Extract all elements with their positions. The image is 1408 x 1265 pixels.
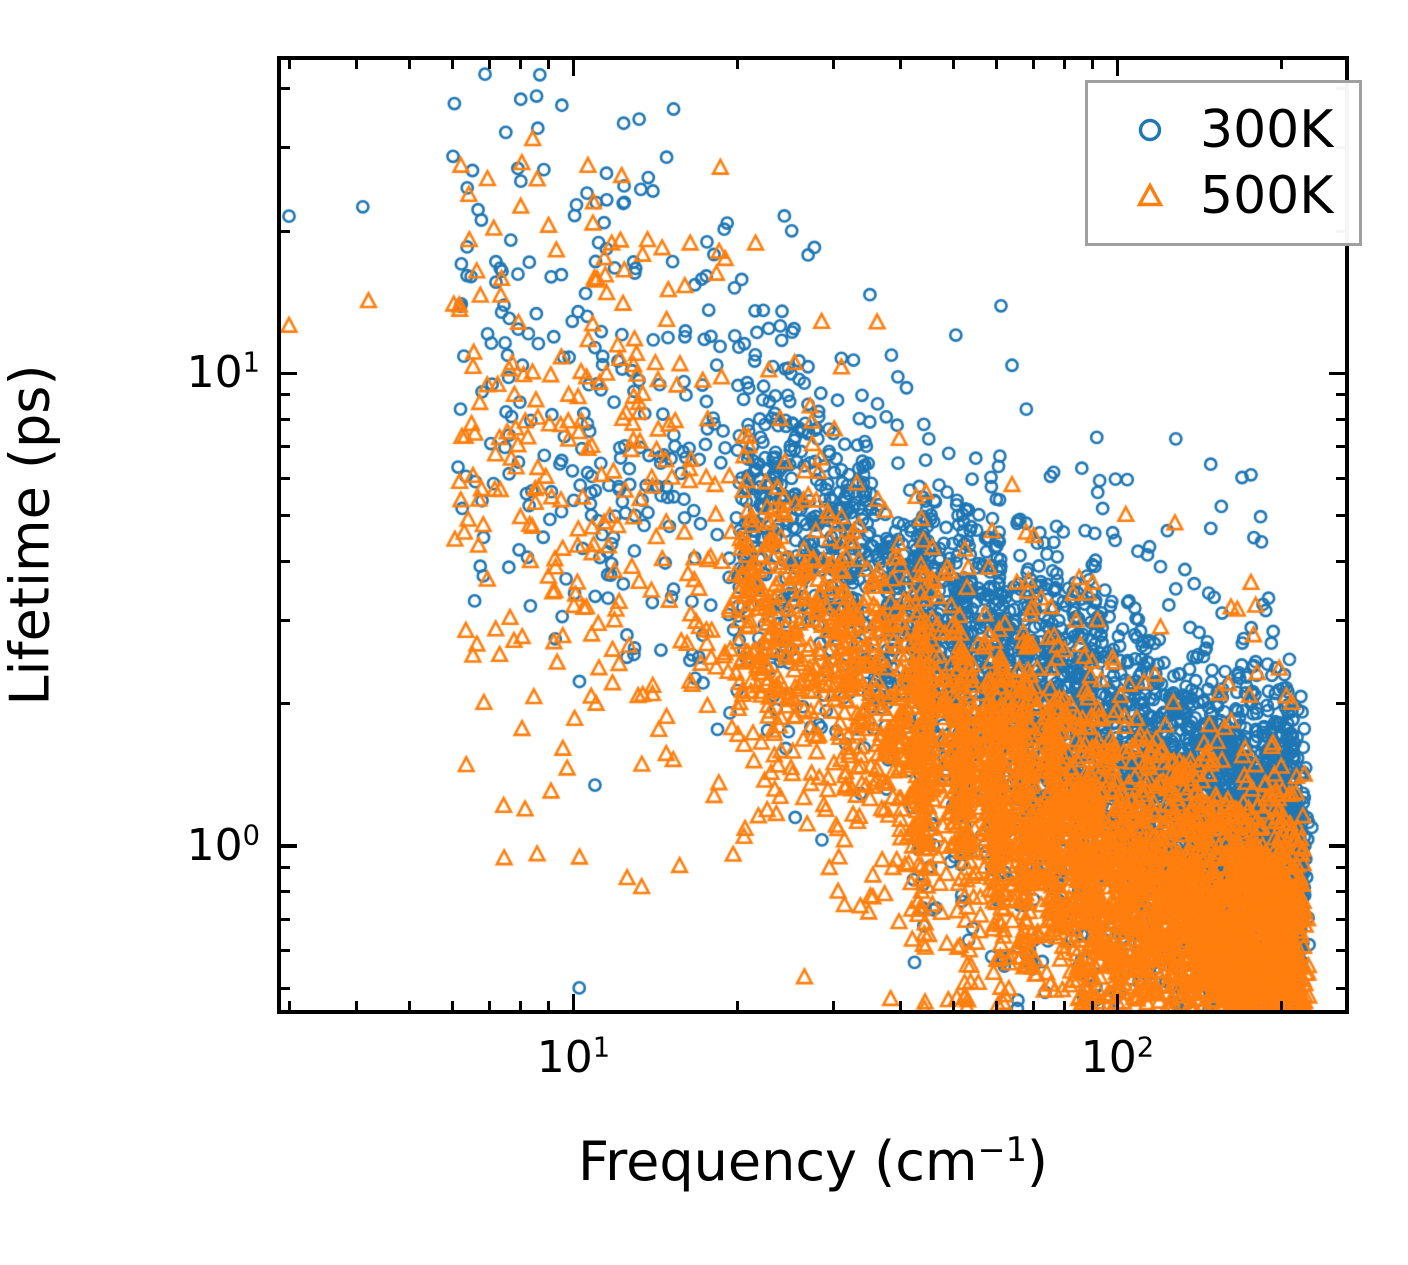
x-tick-minor <box>519 1001 522 1010</box>
y-tick-minor <box>281 866 290 869</box>
y-tick-minor <box>1336 949 1345 952</box>
x-tick-minor <box>408 60 411 69</box>
x-tick-minor <box>451 1001 454 1010</box>
x-tick-major <box>1116 60 1120 76</box>
legend: 300K 500K <box>1085 80 1362 246</box>
y-tick-minor <box>1336 445 1345 448</box>
x-tick-minor <box>1091 1001 1094 1010</box>
x-tick-label: 102 <box>1081 1036 1154 1080</box>
x-tick-minor <box>488 1001 491 1010</box>
x-tick-minor <box>547 60 550 69</box>
x-tick-minor <box>288 60 291 69</box>
x-tick-minor <box>952 60 955 69</box>
x-tick-minor <box>1032 60 1035 69</box>
x-tick-minor <box>995 60 998 69</box>
y-tick-major <box>281 844 297 848</box>
y-tick-minor <box>1336 560 1345 563</box>
x-tick-minor <box>288 1001 291 1010</box>
y-tick-minor <box>281 987 290 990</box>
x-axis-title: Frequency (cm−1) <box>578 1130 1048 1193</box>
x-tick-minor <box>519 60 522 69</box>
x-tick-minor <box>736 1001 739 1010</box>
x-tick-minor <box>355 1001 358 1010</box>
x-axis-title-base: Frequency (cm <box>578 1130 978 1193</box>
x-tick-minor <box>832 1001 835 1010</box>
y-tick-minor <box>281 418 290 421</box>
y-tick-major <box>281 372 297 376</box>
y-tick-label: 100 <box>140 824 260 868</box>
x-tick-minor <box>736 60 739 69</box>
y-tick-minor <box>1336 890 1345 893</box>
y-tick-minor <box>1336 987 1345 990</box>
x-tick-label: 101 <box>537 1036 610 1080</box>
y-tick-minor <box>281 560 290 563</box>
y-tick-minor <box>1336 918 1345 921</box>
y-tick-minor <box>1336 418 1345 421</box>
legend-label-500k: 500K <box>1196 170 1333 222</box>
y-tick-minor <box>281 393 290 396</box>
y-tick-minor <box>1336 393 1345 396</box>
x-tick-minor <box>547 1001 550 1010</box>
y-tick-minor <box>1336 702 1345 705</box>
x-tick-minor <box>1280 60 1283 69</box>
legend-item-500k[interactable]: 500K <box>1104 163 1333 229</box>
y-tick-minor <box>1336 477 1345 480</box>
y-tick-minor <box>281 477 290 480</box>
x-axis-title-exponent: −1 <box>978 1130 1027 1169</box>
x-tick-minor <box>451 60 454 69</box>
y-tick-minor <box>281 619 290 622</box>
y-tick-minor <box>281 702 290 705</box>
x-tick-major <box>1116 994 1120 1010</box>
circle-open-icon <box>1104 113 1196 147</box>
y-tick-major <box>1329 372 1345 376</box>
x-tick-minor <box>1280 1001 1283 1010</box>
y-tick-minor <box>1336 619 1345 622</box>
y-tick-major <box>1329 844 1345 848</box>
y-tick-label: 101 <box>140 351 260 395</box>
y-tick-minor <box>281 230 290 233</box>
y-tick-minor <box>281 146 290 149</box>
figure-root: 101102 100101 Frequency (cm−1) Lifetime … <box>0 0 1408 1265</box>
y-tick-minor <box>1336 866 1345 869</box>
x-tick-minor <box>408 1001 411 1010</box>
x-tick-minor <box>355 60 358 69</box>
y-axis-title: Lifetime (ps) <box>0 364 62 705</box>
x-tick-minor <box>899 1001 902 1010</box>
y-tick-minor <box>281 890 290 893</box>
x-tick-major <box>572 994 576 1010</box>
x-tick-minor <box>832 60 835 69</box>
y-tick-minor <box>281 445 290 448</box>
x-tick-major <box>572 60 576 76</box>
y-tick-minor <box>281 918 290 921</box>
legend-item-300k[interactable]: 300K <box>1104 97 1333 163</box>
triangle-open-icon <box>1104 179 1196 213</box>
x-axis-title-tail: ) <box>1027 1130 1048 1193</box>
legend-label-300k: 300K <box>1196 104 1333 156</box>
y-tick-minor <box>281 514 290 517</box>
x-tick-minor <box>899 60 902 69</box>
x-tick-minor <box>1091 60 1094 69</box>
y-tick-minor <box>281 87 290 90</box>
x-tick-minor <box>1063 60 1066 69</box>
x-tick-minor <box>995 1001 998 1010</box>
x-tick-minor <box>488 60 491 69</box>
x-tick-minor <box>952 1001 955 1010</box>
x-tick-minor <box>1063 1001 1066 1010</box>
y-tick-minor <box>281 949 290 952</box>
x-tick-minor <box>1032 1001 1035 1010</box>
y-tick-minor <box>1336 514 1345 517</box>
